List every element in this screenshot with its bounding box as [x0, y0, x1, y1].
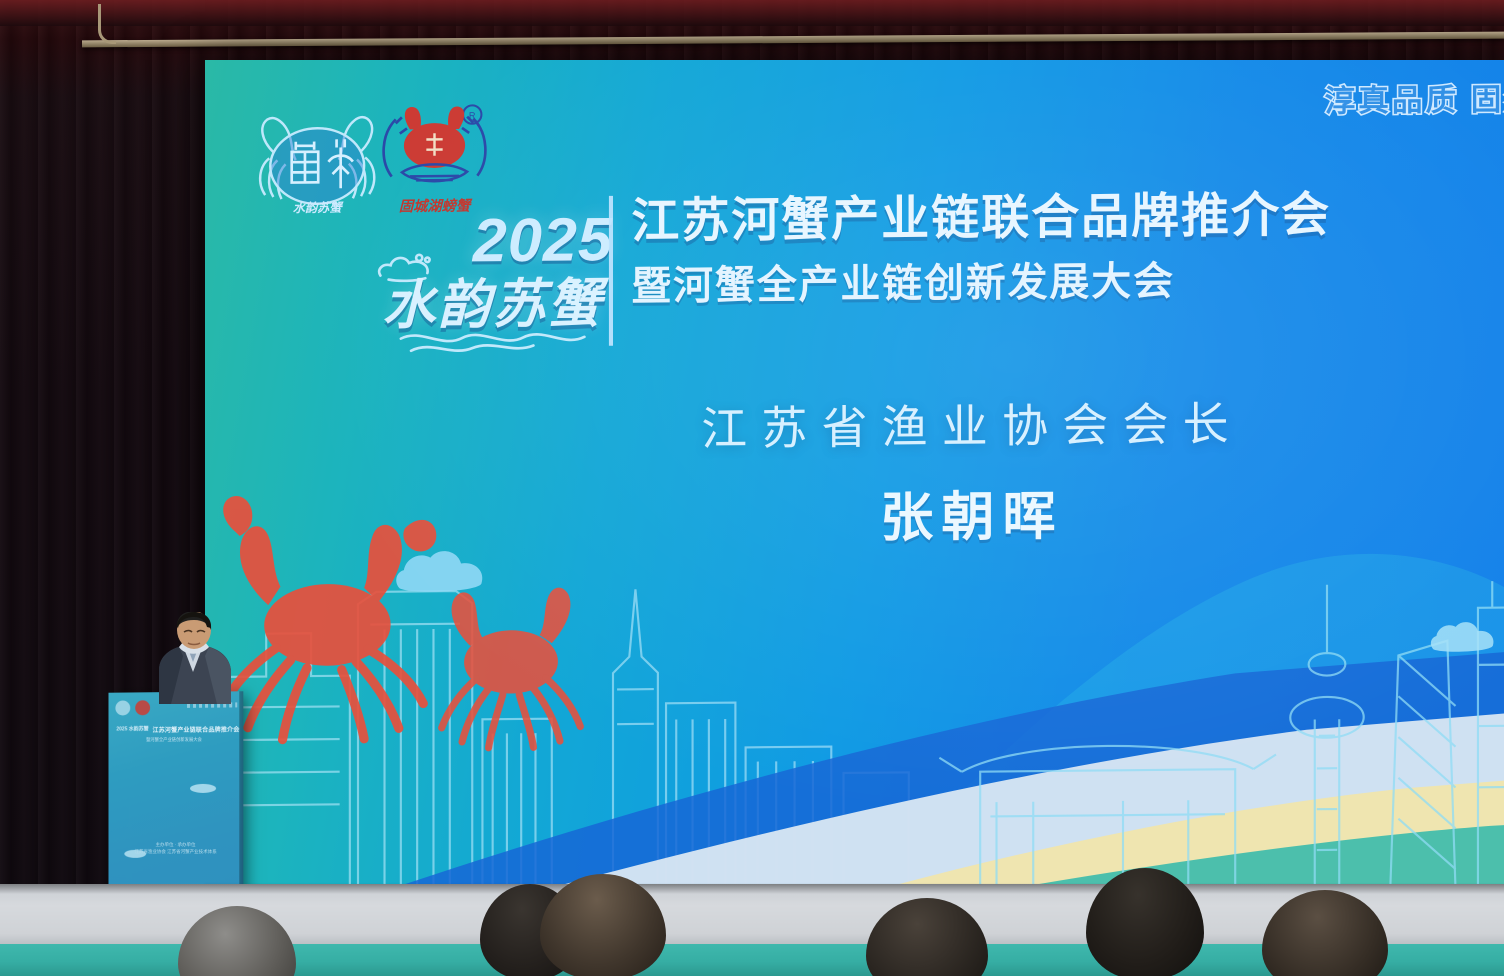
event-title-sub: 暨河蟹全产业链创新发展大会	[631, 246, 1478, 311]
wave-decoration-icon	[397, 324, 601, 357]
title-divider	[609, 196, 613, 346]
podium-footer: 主办单位 · 承办单位 江苏省渔业协会 江苏省河蟹产业技术体系	[108, 842, 243, 856]
podium-brand: 2025 水韵苏蟹	[116, 727, 148, 733]
event-brand-block: 2025 水韵苏蟹	[378, 204, 623, 354]
speaker-info-block: 江苏省渔业协会会长 张朝晖	[414, 384, 1504, 556]
stage-scene: 淳真品质 固然 水韵苏蟹	[0, 0, 1504, 976]
podium-cloud-icon	[190, 784, 216, 793]
crab-emblem-logo-icon: 水韵苏蟹	[251, 106, 384, 222]
crab-illustration	[223, 494, 436, 740]
cloud-icon	[1429, 619, 1504, 654]
podium-title-row: 2025 水韵苏蟹 江苏河蟹产业链联合品牌推介会	[116, 725, 236, 735]
podium-title: 江苏河蟹产业链联合品牌推介会	[153, 724, 240, 734]
podium-footer-line2: 江苏省渔业协会 江苏省河蟹产业技术体系	[108, 849, 243, 856]
rail-hook-icon	[98, 4, 116, 44]
speaker-person	[143, 612, 243, 704]
speaker-name: 张朝晖	[414, 469, 1504, 556]
stage-floor-shadow	[0, 884, 1504, 894]
event-title-block: 江苏河蟹产业链联合品牌推介会 暨河蟹全产业链创新发展大会	[631, 185, 1478, 311]
curtain-valance	[0, 0, 1504, 26]
svg-text:R: R	[469, 111, 476, 121]
svg-text:水韵苏蟹: 水韵苏蟹	[293, 201, 345, 215]
podium-crab-emblem-icon	[115, 700, 130, 715]
led-display-screen: 淳真品质 固然 水韵苏蟹	[205, 60, 1504, 885]
podium-subtitle: 暨河蟹全产业链创新发展大会	[146, 737, 202, 743]
slogan-text: 淳真品质 固然	[1325, 74, 1504, 121]
event-title-main: 江苏河蟹产业链联合品牌推介会	[631, 185, 1478, 248]
gucheng-lake-crab-logo-icon: R 固城湖螃蟹	[373, 100, 495, 222]
speaker-role: 江苏省渔业协会会长	[414, 384, 1504, 461]
